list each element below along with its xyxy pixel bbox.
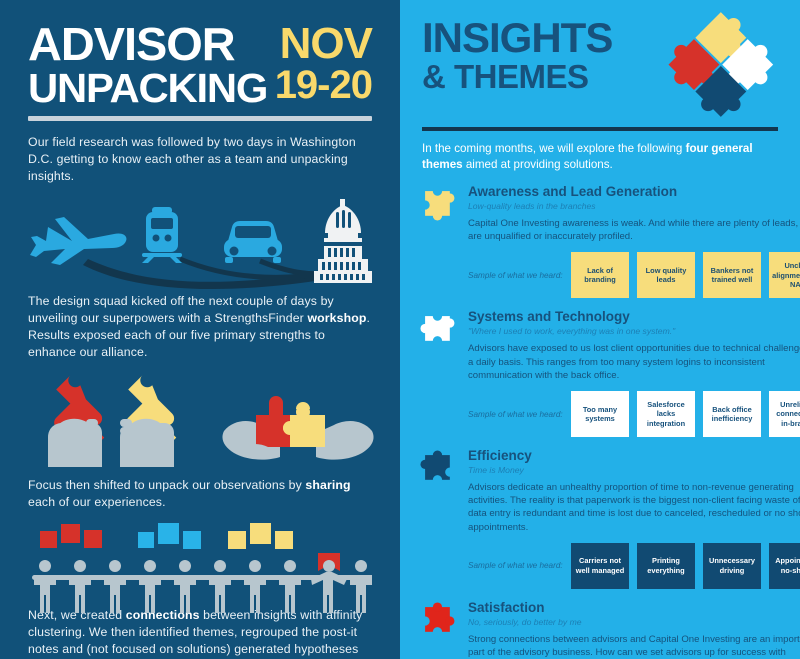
infographic-page: ADVISOR UNPACKING NOV 19-20 Our field re…	[0, 0, 800, 659]
person-with-flag	[311, 560, 347, 613]
insights-divider	[422, 127, 778, 131]
sample-label: Sample of what we heard:	[468, 561, 571, 570]
right-panel: INSIGHTS & THEMES	[400, 0, 800, 659]
puzzle-piece-icon-yellow	[422, 184, 468, 298]
left-title-block: ADVISOR UNPACKING NOV 19-20	[28, 22, 372, 110]
sample-label: Sample of what we heard:	[468, 410, 571, 419]
paragraph3-text-b: each of our experiences.	[28, 495, 166, 509]
theme-description: Advisors dedicate an unhealthy proportio…	[468, 481, 800, 534]
train-icon	[142, 207, 182, 263]
theme-description: Advisors have exposed to us lost client …	[468, 342, 800, 382]
theme-title: Awareness and Lead Generation	[468, 184, 800, 200]
theme-title: Satisfaction	[468, 600, 800, 616]
sticky-note[interactable]: Salesforce lacks integration	[637, 391, 695, 437]
insights-intro-paragraph: In the coming months, we will explore th…	[422, 141, 778, 173]
sticky-note[interactable]: Unnecessary driving	[703, 543, 761, 589]
sticky-note[interactable]: Back office inefficiency	[703, 391, 761, 437]
travel-illustration	[28, 199, 372, 287]
puzzle-piece-icon-red	[422, 600, 468, 659]
insights-intro-b: aimed at providing solutions.	[463, 158, 613, 171]
paragraph2-text-a: The design squad kicked off the next cou…	[28, 294, 334, 325]
paragraph-sharing: Focus then shifted to unpack our observa…	[28, 477, 372, 511]
hand-holding-yellow-puzzle-icon	[100, 375, 191, 467]
car-icon	[224, 221, 282, 263]
theme-sample-row: Sample of what we heard: Lack of brandin…	[468, 252, 800, 298]
hand-holding-red-puzzle-icon	[28, 375, 119, 467]
theme-systems-and-technology: Systems and Technology "Where I used to …	[422, 309, 778, 437]
title-divider	[28, 116, 372, 121]
theme-sample-row: Sample of what we heard: Too many system…	[468, 391, 800, 437]
theme-efficiency: Efficiency Time is Money Advisors dedica…	[422, 448, 778, 589]
paragraph-strengthsfinder: The design squad kicked off the next cou…	[28, 293, 372, 361]
insights-title-line2: & THEMES	[422, 58, 612, 96]
sticky-note-group: Lack of branding Low quality leads Banke…	[571, 252, 800, 298]
theme-awareness-and-lead-generation: Awareness and Lead Generation Low-qualit…	[422, 184, 778, 298]
four-piece-puzzle-logo	[658, 14, 778, 122]
sticky-note[interactable]: Unclear alignment with NAC	[769, 252, 800, 298]
theme-satisfaction: Satisfaction No, seriously, do better by…	[422, 600, 778, 659]
theme-subtitle: Time is Money	[468, 464, 800, 476]
paragraph2-bold: workshop	[307, 311, 366, 325]
sticky-note[interactable]: Carriers not well managed	[571, 543, 629, 589]
insights-title-line1: INSIGHTS	[422, 18, 612, 58]
blue-note-cluster	[138, 523, 201, 549]
left-panel: ADVISOR UNPACKING NOV 19-20 Our field re…	[0, 0, 400, 659]
puzzle-piece-icon-navy	[422, 448, 468, 589]
sticky-note[interactable]: Low quality leads	[637, 252, 695, 298]
page-title-line2: UNPACKING	[28, 66, 267, 110]
theme-sample-row: Sample of what we heard: Carriers not we…	[468, 543, 800, 589]
red-note-cluster	[40, 524, 102, 548]
joined-hands-puzzle-icon	[222, 396, 373, 460]
insights-intro-a: In the coming months, we will explore th…	[422, 142, 686, 155]
puzzle-piece-icon-white	[422, 309, 468, 437]
sticky-note[interactable]: Appointment no-shows	[769, 543, 800, 589]
paragraph3-text-a: Focus then shifted to unpack our observa…	[28, 478, 305, 492]
sticky-note[interactable]: Bankers not trained well	[703, 252, 761, 298]
sticky-note-group: Carriers not well managed Printing every…	[571, 543, 800, 589]
theme-title: Systems and Technology	[468, 309, 800, 325]
sticky-note[interactable]: Unreliable connections in-branch	[769, 391, 800, 437]
right-title-block: INSIGHTS & THEMES	[422, 18, 778, 122]
sticky-note[interactable]: Printing everything	[637, 543, 695, 589]
theme-description: Strong connections between advisors and …	[468, 633, 800, 659]
sticky-note[interactable]: Lack of branding	[571, 252, 629, 298]
theme-title: Efficiency	[468, 448, 800, 464]
theme-subtitle: Low-quality leads in the branches	[468, 200, 800, 212]
paragraph3-bold: sharing	[305, 478, 350, 492]
theme-description: Capital One Investing awareness is weak.…	[468, 217, 800, 243]
theme-subtitle: "Where I used to work, everything was in…	[468, 325, 800, 337]
team-people-illustration	[28, 515, 372, 601]
intro-paragraph: Our field research was followed by two d…	[28, 134, 372, 185]
date-month: NOV	[275, 24, 372, 64]
sticky-note-group: Too many systems Salesforce lacks integr…	[571, 391, 800, 437]
theme-subtitle: No, seriously, do better by me	[468, 616, 800, 628]
date-days: 19-20	[275, 64, 372, 106]
sticky-note[interactable]: Too many systems	[571, 391, 629, 437]
airplane-icon	[30, 217, 126, 265]
sample-label: Sample of what we heard:	[468, 271, 571, 280]
page-title-line1: ADVISOR	[28, 22, 267, 66]
yellow-note-cluster	[228, 523, 293, 549]
hands-puzzle-illustration	[28, 375, 372, 467]
